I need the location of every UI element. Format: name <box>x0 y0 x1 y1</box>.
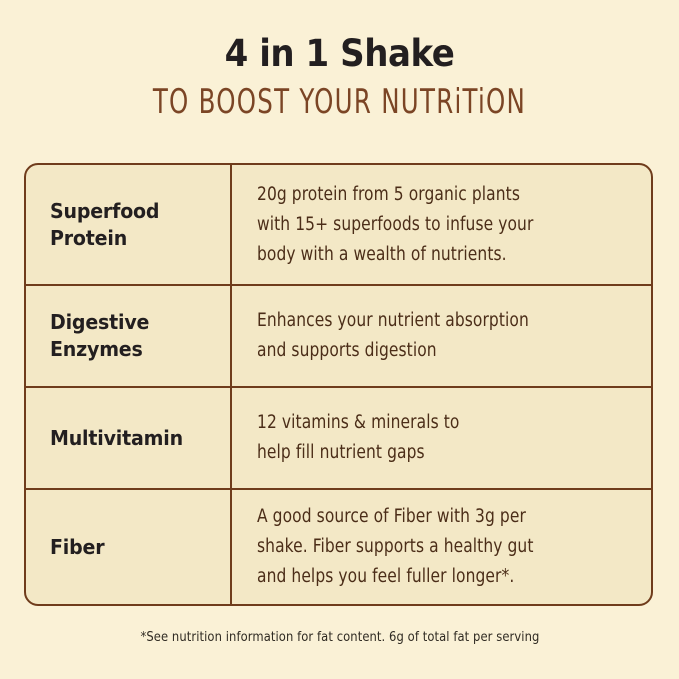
page-title: 4 in 1 Shake <box>27 32 652 76</box>
footnote-text: *See nutrition information for fat conte… <box>140 628 539 646</box>
shake-benefits-infographic: 4 in 1 Shake TO BOOST YOUR NUTRiTiON Sup… <box>0 0 679 679</box>
table-cell-label: Multivitamin <box>26 388 232 488</box>
table-cell-description: 12 vitamins & minerals to help fill nutr… <box>232 388 651 488</box>
table-row: Superfood Protein 20g protein from 5 org… <box>26 165 651 286</box>
benefits-table-body: Superfood Protein 20g protein from 5 org… <box>26 165 651 604</box>
benefit-description: Enhances your nutrient absorption and su… <box>257 306 529 366</box>
table-cell-label: Superfood Protein <box>26 165 232 284</box>
benefit-description: A good source of Fiber with 3g per shake… <box>257 502 534 592</box>
benefit-name: Fiber <box>50 534 104 561</box>
benefit-description: 20g protein from 5 organic plants with 1… <box>257 180 533 270</box>
table-row: Fiber A good source of Fiber with 3g per… <box>26 490 651 604</box>
table-cell-description: A good source of Fiber with 3g per shake… <box>232 490 651 604</box>
benefit-name: Digestive Enzymes <box>50 309 149 363</box>
benefit-description: 12 vitamins & minerals to help fill nutr… <box>257 408 459 468</box>
table-cell-description: 20g protein from 5 organic plants with 1… <box>232 165 651 284</box>
table-row: Multivitamin 12 vitamins & minerals to h… <box>26 388 651 490</box>
table-cell-label: Digestive Enzymes <box>26 286 232 386</box>
header-block: 4 in 1 Shake TO BOOST YOUR NUTRiTiON <box>0 0 679 122</box>
benefit-name: Multivitamin <box>50 425 183 452</box>
page-subtitle: TO BOOST YOUR NUTRiTiON <box>68 82 611 122</box>
footnote: *See nutrition information for fat conte… <box>0 628 679 646</box>
benefit-name: Superfood Protein <box>50 198 159 252</box>
table-row: Digestive Enzymes Enhances your nutrient… <box>26 286 651 388</box>
table-cell-label: Fiber <box>26 490 232 604</box>
benefits-table: Superfood Protein 20g protein from 5 org… <box>24 163 653 606</box>
table-cell-description: Enhances your nutrient absorption and su… <box>232 286 651 386</box>
